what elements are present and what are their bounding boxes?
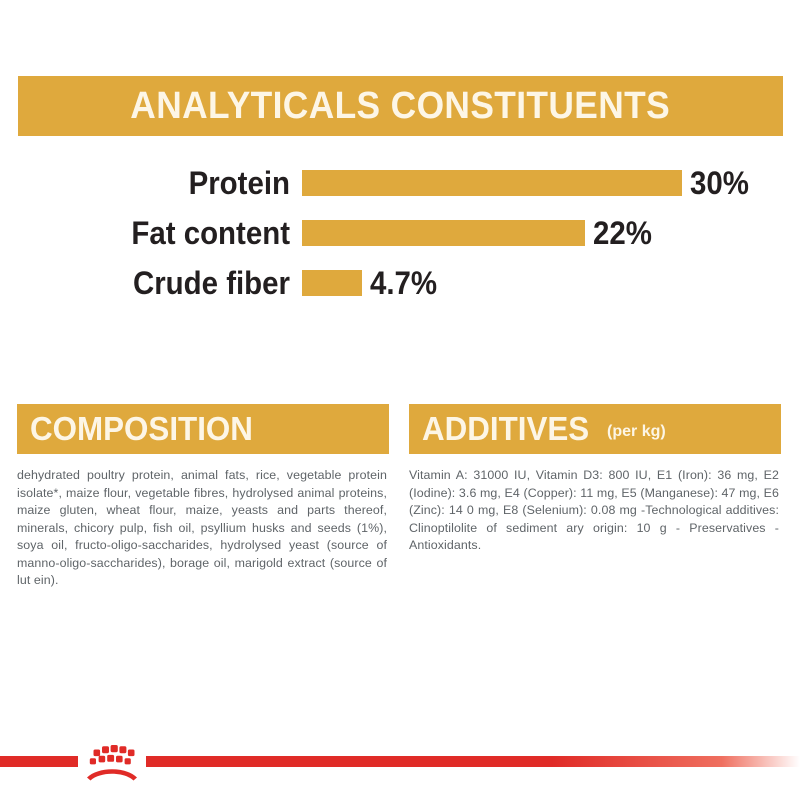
chart-bar-protein xyxy=(302,170,682,196)
composition-panel: COMPOSITION dehydrated poultry protein, … xyxy=(17,404,389,590)
page-title: ANALYTICALS CONSTITUENTS xyxy=(131,85,671,128)
chart-row-fat-content: Fat content 22% xyxy=(0,208,800,258)
chart-row-protein: Protein 30% xyxy=(0,158,800,208)
analyticals-bar-chart: Protein 30% Fat content 22% Crude fiber … xyxy=(0,158,800,313)
brand-rule-left xyxy=(0,756,78,767)
composition-heading-band: COMPOSITION xyxy=(17,404,389,454)
chart-bar-wrap-fat-content: 22% xyxy=(302,215,657,252)
chart-label-protein: Protein xyxy=(23,165,290,202)
chart-value-protein: 30% xyxy=(690,165,749,202)
chart-bar-crude-fiber xyxy=(302,270,362,296)
additives-heading-note: (per kg) xyxy=(607,423,666,441)
additives-heading-band: ADDITIVES (per kg) xyxy=(409,404,781,454)
info-panels: COMPOSITION dehydrated poultry protein, … xyxy=(0,404,800,590)
chart-row-crude-fiber: Crude fiber 4.7% xyxy=(0,258,800,308)
royal-canin-crown-icon xyxy=(80,739,144,787)
brand-rule-right xyxy=(146,756,800,767)
composition-body-text: dehydrated poultry protein, animal fats,… xyxy=(17,467,389,590)
analyticals-title-band: ANALYTICALS CONSTITUENTS xyxy=(18,76,783,136)
nutrition-panel: ANALYTICALS CONSTITUENTS Protein 30% Fat… xyxy=(0,0,800,800)
additives-body-text: Vitamin A: 31000 IU, Vitamin D3: 800 IU,… xyxy=(409,467,781,555)
chart-value-fat-content: 22% xyxy=(593,215,652,252)
composition-heading: COMPOSITION xyxy=(30,410,253,448)
chart-label-fat-content: Fat content xyxy=(23,215,290,252)
additives-panel: ADDITIVES (per kg) Vitamin A: 31000 IU, … xyxy=(409,404,781,590)
brand-footer xyxy=(0,742,800,800)
chart-value-crude-fiber: 4.7% xyxy=(370,265,437,302)
chart-bar-fat-content xyxy=(302,220,585,246)
additives-heading: ADDITIVES xyxy=(422,410,589,448)
chart-label-crude-fiber: Crude fiber xyxy=(23,265,290,302)
chart-bar-wrap-protein: 30% xyxy=(302,165,754,202)
chart-bar-wrap-crude-fiber: 4.7% xyxy=(302,265,443,302)
